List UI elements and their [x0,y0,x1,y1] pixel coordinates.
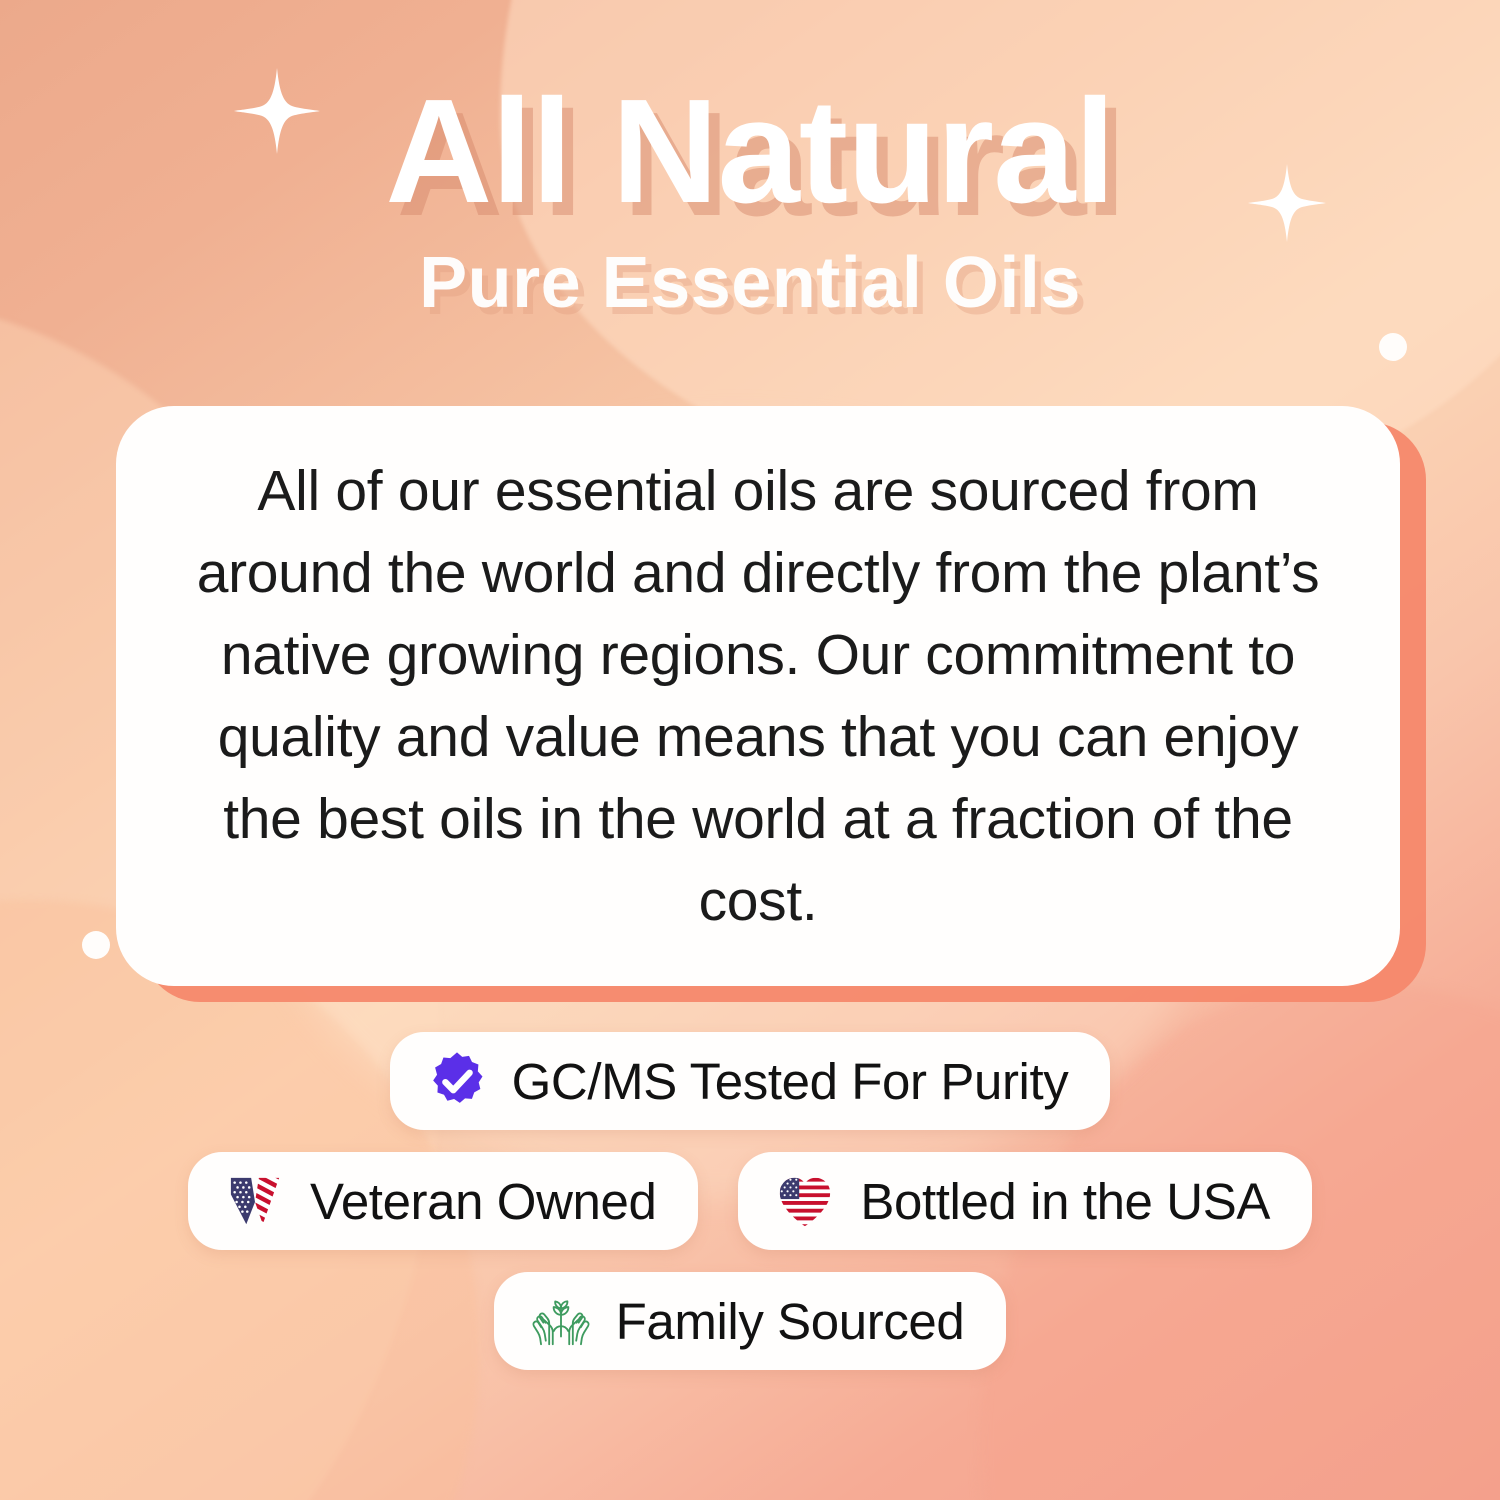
trust-badges: GC/MS Tested For Purity [0,1032,1500,1392]
page-title: All Natural [0,78,1500,226]
verified-check-badge-icon [426,1050,488,1112]
heart-us-flag-icon [774,1170,836,1232]
description-card-body: All of our essential oils are sourced fr… [194,450,1322,942]
trust-badge-row-2: Veteran Owned [0,1152,1500,1250]
page-subtitle: Pure Essential Oils [0,246,1500,322]
description-card-surface: All of our essential oils are sourced fr… [116,406,1400,986]
badge-gcms-tested[interactable]: GC/MS Tested For Purity [390,1032,1111,1130]
badge-label: Bottled in the USA [860,1176,1270,1227]
decorative-dot-icon [82,931,110,959]
chevron-us-flag-icon [224,1170,286,1232]
description-card: All of our essential oils are sourced fr… [116,406,1400,986]
badge-bottled-in-usa[interactable]: Bottled in the USA [738,1152,1312,1250]
badge-label: Family Sourced [616,1296,965,1347]
badge-label: Veteran Owned [310,1176,656,1227]
badge-label: GC/MS Tested For Purity [512,1056,1069,1107]
promo-graphic: All Natural Pure Essential Oils All of o… [0,0,1500,1500]
hands-holding-sprout-icon [530,1290,592,1352]
trust-badge-row-1: GC/MS Tested For Purity [0,1032,1500,1130]
headline-block: All Natural Pure Essential Oils [0,78,1500,322]
badge-family-sourced[interactable]: Family Sourced [494,1272,1007,1370]
decorative-dot-icon [1379,333,1407,361]
trust-badge-row-3: Family Sourced [0,1272,1500,1370]
badge-veteran-owned[interactable]: Veteran Owned [188,1152,698,1250]
